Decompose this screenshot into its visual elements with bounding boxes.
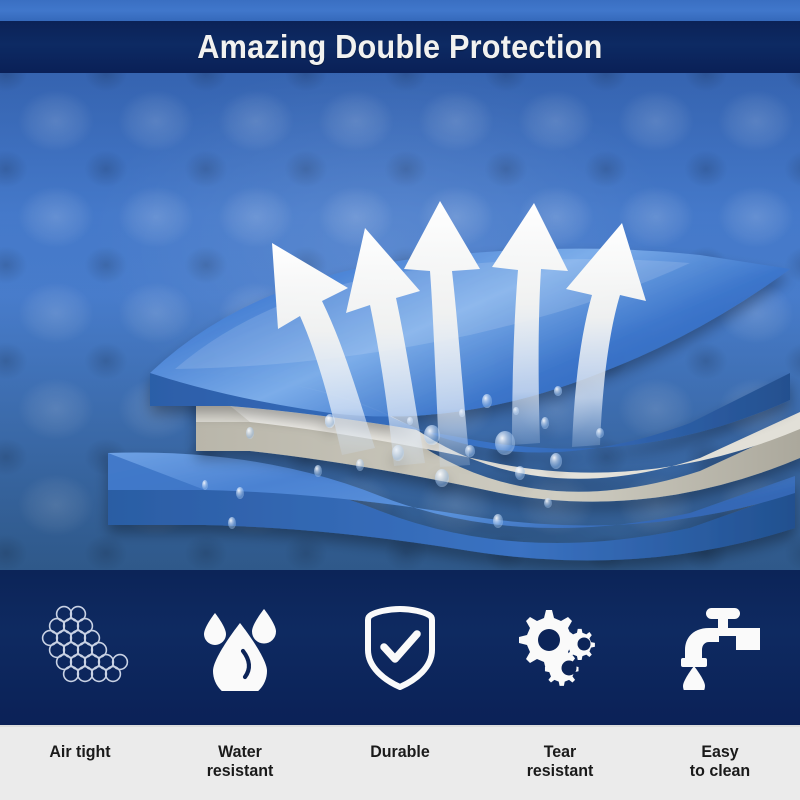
feature-icon-cell-durable <box>320 570 480 725</box>
feature-icon-cell-tear-resistant <box>480 570 640 725</box>
top-blue-strip <box>0 0 800 21</box>
faucet-drop-icon <box>676 606 764 690</box>
feature-label-air-tight: Air tight <box>5 727 155 761</box>
top-blue-fabric-layer <box>150 249 790 487</box>
page-title: Amazing Double Protection <box>197 28 602 66</box>
feature-label-durable: Durable <box>325 727 475 761</box>
feature-label-water-resistant: Water resistant <box>165 727 315 780</box>
feature-icon-cell-water-resistant <box>160 570 320 725</box>
honeycomb-mesh-icon <box>28 604 132 692</box>
layers-illustration <box>0 73 800 570</box>
feature-icon-bar <box>0 570 800 725</box>
shield-check-icon <box>362 604 438 692</box>
gears-icon <box>514 604 606 692</box>
feature-icon-cell-easy-to-clean <box>640 570 800 725</box>
feature-icon-cell-air-tight <box>0 570 160 725</box>
title-banner: Amazing Double Protection <box>0 21 800 73</box>
product-infographic: Amazing Double Protection <box>0 0 800 800</box>
feature-label-easy-to-clean: Easy to clean <box>645 727 795 780</box>
water-droplets-icon <box>201 605 279 691</box>
feature-label-tear-resistant: Tear resistant <box>485 727 635 780</box>
feature-label-strip: Air tight Water resistant Durable Tear r… <box>0 725 800 800</box>
